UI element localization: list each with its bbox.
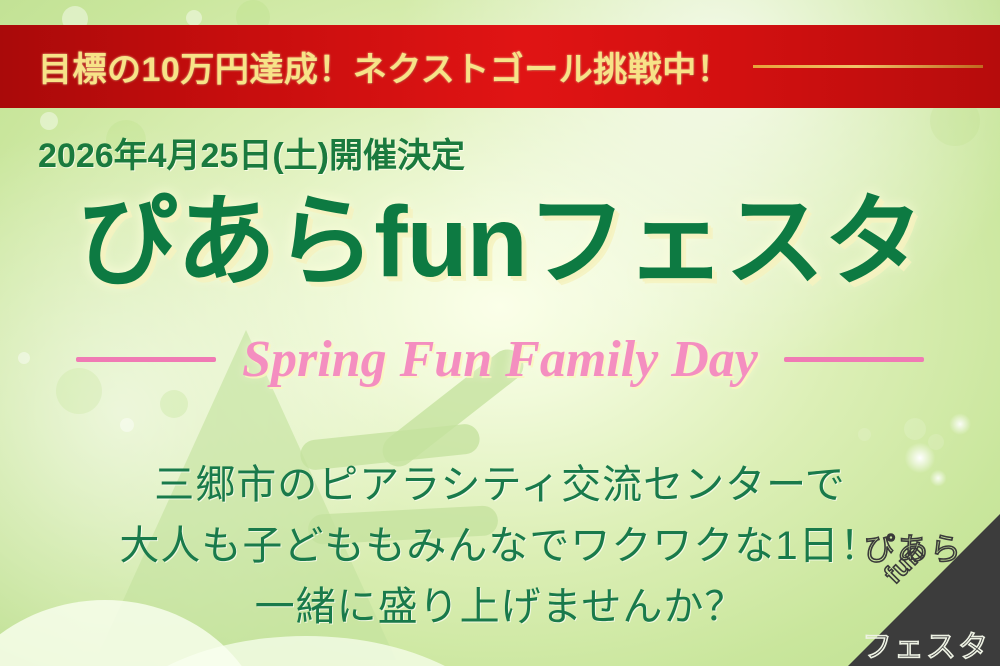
bokeh-circle <box>120 418 134 432</box>
subtitle-text: Spring Fun Family Day <box>242 330 758 389</box>
bokeh-circle <box>928 434 944 450</box>
page-title: ぴあらfunフェスタ <box>0 186 1000 298</box>
bokeh-circle <box>186 10 202 26</box>
brand-logo: ぴあら fun フェスタ <box>848 514 1000 666</box>
body-line-1: 三郷市のピアラシティ交流センターで <box>0 455 1000 516</box>
event-poster: 目標の10万円達成！ネクストゴール挑戦中！ 2026年4月25日(土)開催決定 … <box>0 0 1000 666</box>
announcement-banner-text: 目標の10万円達成！ネクストゴール挑戦中！ <box>38 42 731 91</box>
announcement-banner: 目標の10万円達成！ネクストゴール挑戦中！ <box>0 25 1000 108</box>
logo-text-bottom: フェスタ <box>862 622 990 666</box>
bokeh-circle <box>858 428 871 441</box>
event-date: 2026年4月25日(土)開催決定 <box>38 128 465 177</box>
bokeh-circle <box>904 418 926 440</box>
banner-horizontal-rule <box>753 65 983 68</box>
subtitle-row: Spring Fun Family Day <box>0 330 1000 389</box>
sparkle-icon <box>918 382 1000 466</box>
subtitle-rule-right <box>784 357 924 362</box>
subtitle-rule-left <box>76 357 216 362</box>
bokeh-circle <box>160 390 188 418</box>
